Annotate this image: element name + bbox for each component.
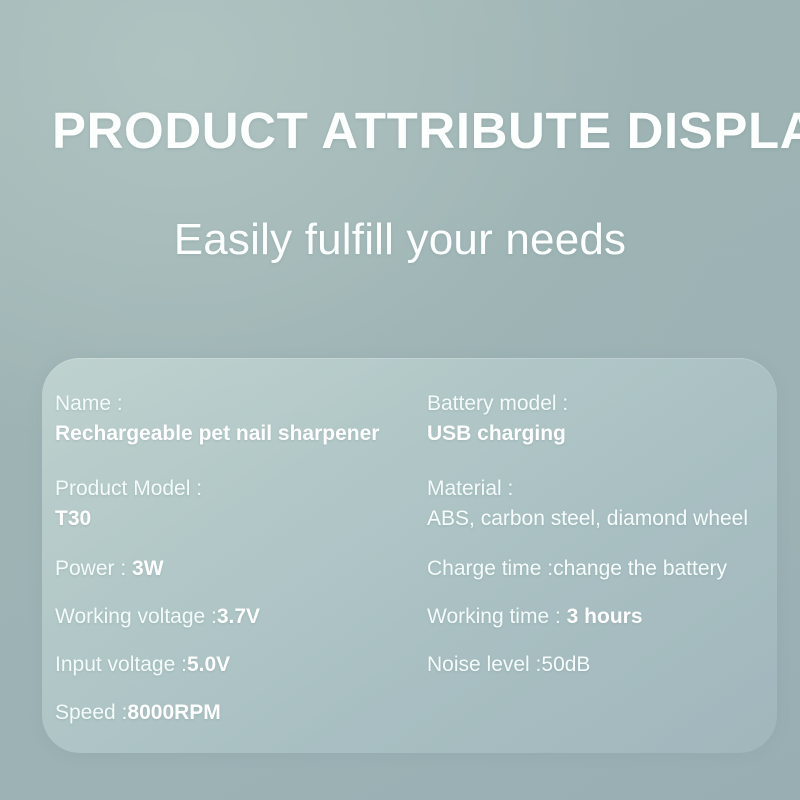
spec-row: Input voltage :5.0V	[55, 654, 230, 675]
spec-row: Working voltage :3.7V	[55, 606, 260, 627]
spec-row: Speed :8000RPM	[55, 702, 221, 723]
spec-value: USB charging	[427, 423, 568, 444]
spec-label: Product Model :	[55, 478, 202, 499]
spec-label: Power :	[55, 557, 132, 580]
spec-label: Working time :	[427, 605, 567, 628]
specification-columns: Name :Rechargeable pet nail sharpenerPro…	[42, 358, 777, 753]
spec-row: Charge time :change the battery	[427, 558, 727, 579]
spec-label: Speed :	[55, 701, 127, 724]
spec-label: Battery model :	[427, 393, 568, 414]
specification-column-right: Battery model :USB chargingMaterial :ABS…	[412, 358, 777, 753]
page-subtitle: Easily fulfill your needs	[0, 209, 800, 271]
spec-label: Noise level :	[427, 653, 541, 676]
spec-row: Power : 3W	[55, 558, 164, 579]
product-attribute-page: PRODUCT ATTRIBUTE DISPLAY Easily fulfill…	[0, 0, 800, 800]
specification-column-left: Name :Rechargeable pet nail sharpenerPro…	[42, 358, 412, 753]
spec-value: 3W	[132, 557, 164, 580]
spec-label: Material :	[427, 478, 748, 499]
spec-value: Rechargeable pet nail sharpener	[55, 423, 379, 444]
spec-row: Name :Rechargeable pet nail sharpener	[55, 393, 379, 444]
spec-value: 5.0V	[187, 653, 230, 676]
spec-row: Working time : 3 hours	[427, 606, 643, 627]
spec-value: T30	[55, 508, 202, 529]
spec-value: 3 hours	[567, 605, 643, 628]
spec-label: Input voltage :	[55, 653, 187, 676]
page-title: PRODUCT ATTRIBUTE DISPLAY	[52, 100, 772, 162]
spec-label: Name :	[55, 393, 379, 414]
spec-value: 50dB	[541, 653, 590, 676]
spec-row: Battery model :USB charging	[427, 393, 568, 444]
specification-card: Name :Rechargeable pet nail sharpenerPro…	[42, 358, 777, 753]
spec-label: Working voltage :	[55, 605, 217, 628]
spec-value: 3.7V	[217, 605, 260, 628]
spec-value: change the battery	[553, 557, 727, 580]
spec-row: Product Model :T30	[55, 478, 202, 529]
spec-row: Noise level :50dB	[427, 654, 590, 675]
spec-value: ABS, carbon steel, diamond wheel	[427, 508, 748, 529]
spec-row: Material :ABS, carbon steel, diamond whe…	[427, 478, 748, 529]
spec-value: 8000RPM	[127, 701, 220, 724]
spec-label: Charge time :	[427, 557, 553, 580]
